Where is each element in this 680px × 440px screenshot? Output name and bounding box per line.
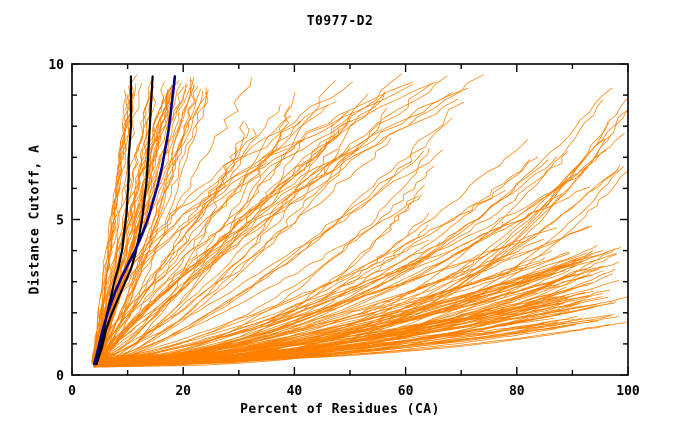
y-axis-label: Distance Cutoff, A	[28, 60, 43, 380]
x-tick-label: 40	[287, 384, 303, 399]
x-tick-label: 20	[175, 384, 191, 399]
x-tick-label: 80	[509, 384, 525, 399]
x-axis-label: Percent of Residues (CA)	[0, 402, 680, 417]
chart-root: T0977-D2 0204060801000510 Percent of Res…	[0, 0, 680, 440]
y-tick-label: 10	[48, 58, 64, 73]
plot-area: 0204060801000510	[0, 0, 680, 440]
x-tick-label: 100	[616, 384, 640, 399]
y-tick-label: 0	[56, 369, 64, 384]
x-tick-label: 0	[68, 384, 76, 399]
prediction-curves-group	[92, 74, 628, 368]
y-tick-label: 5	[56, 214, 64, 229]
x-tick-label: 60	[398, 384, 414, 399]
